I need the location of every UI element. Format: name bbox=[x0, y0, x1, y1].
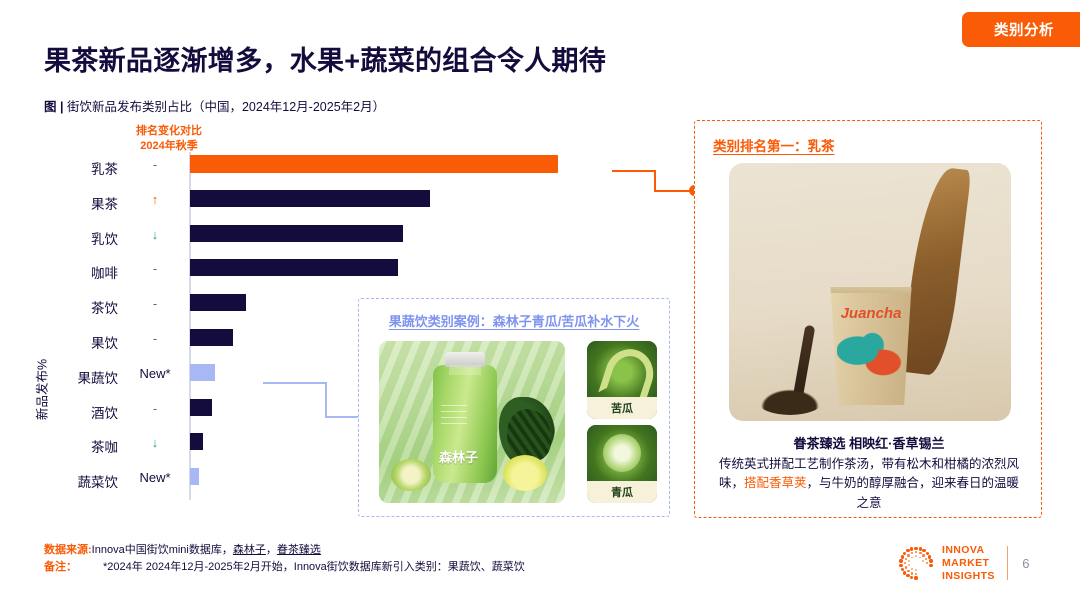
bitter-gourd-icon bbox=[587, 341, 657, 397]
figure-prefix: 图 | bbox=[44, 100, 63, 114]
tea-leaves-image bbox=[757, 387, 823, 415]
chart-bar bbox=[190, 399, 212, 416]
chart-bar bbox=[190, 468, 199, 485]
thumbnail-label: 青瓜 bbox=[587, 481, 657, 503]
lemon-half-image bbox=[503, 455, 547, 491]
logo-dots-icon bbox=[898, 545, 934, 581]
chart-bar bbox=[190, 225, 403, 242]
page-title: 果茶新品逐渐增多，水果+蔬菜的组合令人期待 bbox=[44, 39, 606, 78]
juice-product-photo: 森林子 bbox=[379, 341, 565, 503]
footer-notes: 数据来源:Innova中国街饮mini数据库，森林子，眷茶臻选 备注：*2024… bbox=[44, 542, 525, 576]
fruit-veg-case-title: 果蔬饮类别案例：森林子青瓜/苦瓜补水下火 bbox=[359, 311, 669, 330]
note-text: *2024年 2024年12月-2025年2月开始，Innova街饮数据库新引入… bbox=[103, 561, 525, 573]
rank-change-header-line1: 排名变化对比 bbox=[119, 124, 219, 139]
chart-category-label: 咖啡 bbox=[0, 262, 118, 282]
description-highlight: 搭配香草荚 bbox=[744, 476, 807, 490]
footer-note-line: 备注：*2024年 2024年12月-2025年2月开始，Innova街饮数据库… bbox=[44, 559, 525, 576]
ingredient-thumbnails: 苦瓜 青瓜 bbox=[587, 341, 657, 509]
chart-category-label: 乳茶 bbox=[0, 158, 118, 178]
chart-row: 乳饮↓ bbox=[0, 222, 620, 257]
rank-change-indicator: - bbox=[126, 261, 184, 276]
note-label: 备注： bbox=[44, 561, 77, 573]
chart-row: 咖啡- bbox=[0, 256, 620, 291]
chart-bar bbox=[190, 364, 215, 381]
source-separator: ， bbox=[266, 544, 277, 556]
footer-source-line: 数据来源:Innova中国街饮mini数据库，森林子，眷茶臻选 bbox=[44, 542, 525, 559]
chart-row: 乳茶- bbox=[0, 152, 620, 187]
chart-bar bbox=[190, 294, 246, 311]
chart-bar bbox=[190, 259, 398, 276]
slide-root: 类别分析 果茶新品逐渐增多，水果+蔬菜的组合令人期待 图 | 街饮新品发布类别占… bbox=[0, 0, 1080, 608]
product-caption: 眷茶臻选 相映红·香草锡兰 bbox=[705, 433, 1033, 452]
logo-wordmark: INNOVA MARKET INSIGHTS bbox=[942, 544, 995, 582]
source-link-juancha[interactable]: 眷茶臻选 bbox=[277, 544, 321, 556]
cup-brand-label: Juancha bbox=[825, 305, 917, 322]
logo-line-3: INSIGHTS bbox=[942, 570, 995, 583]
chart-bar bbox=[190, 190, 430, 207]
chart-category-label: 果茶 bbox=[0, 193, 118, 213]
rank-change-indicator: - bbox=[126, 331, 184, 346]
figure-subtitle: 图 | 街饮新品发布类别占比（中国，2024年12月-2025年2月） bbox=[44, 96, 385, 115]
cup-artwork bbox=[837, 329, 905, 383]
description-part-2: ，与牛奶的醇厚融合，迎来春日的温暖之意 bbox=[807, 476, 1020, 509]
paper-cup: Juancha bbox=[825, 287, 917, 405]
chart-category-label: 茶咖 bbox=[0, 436, 118, 456]
product-description: 传统英式拼配工艺制作茶汤，带有松木和柑橘的浓烈风味，搭配香草荚，与牛奶的醇厚融合… bbox=[717, 455, 1021, 513]
chart-row: 果茶↑ bbox=[0, 187, 620, 222]
chart-category-label: 蔬菜饮 bbox=[0, 471, 118, 491]
chart-bar bbox=[190, 433, 203, 450]
rank-change-indicator: ↑ bbox=[126, 192, 184, 207]
cup-lid bbox=[816, 271, 926, 293]
rank-change-indicator: New* bbox=[126, 470, 184, 485]
chart-category-label: 果蔬饮 bbox=[0, 367, 118, 387]
page-number: 6 bbox=[1022, 556, 1029, 571]
source-label: 数据来源: bbox=[44, 544, 92, 556]
rank-change-indicator: ↓ bbox=[126, 227, 184, 242]
badge-label: 类别分析 bbox=[994, 19, 1054, 40]
top-category-panel: 类别排名第一：乳茶 Juancha 眷茶臻选 相映红·香草锡兰 传统英式拼配工艺… bbox=[694, 120, 1042, 518]
source-link-senlinzi[interactable]: 森林子 bbox=[233, 544, 266, 556]
chart-bar bbox=[190, 155, 558, 173]
rank-change-indicator: ↓ bbox=[126, 435, 184, 450]
bottle-neck bbox=[449, 365, 481, 375]
rank-change-indicator: - bbox=[126, 157, 184, 172]
chart-category-label: 乳饮 bbox=[0, 228, 118, 248]
innova-logo: INNOVA MARKET INSIGHTS 6 bbox=[898, 544, 1029, 582]
thumbnail-cucumber: 青瓜 bbox=[587, 425, 657, 503]
chart-category-label: 果饮 bbox=[0, 332, 118, 352]
chart-bar bbox=[190, 329, 233, 346]
bitter-gourd-slice-image bbox=[391, 459, 431, 491]
logo-line-1: INNOVA bbox=[942, 544, 995, 557]
source-text: Innova中国街饮mini数据库， bbox=[92, 544, 233, 556]
palm-leaf-image bbox=[900, 165, 971, 377]
bottle-brand-label: 森林子 bbox=[439, 447, 491, 466]
rank-change-indicator: - bbox=[126, 401, 184, 416]
cucumber-icon bbox=[587, 425, 657, 481]
thumbnail-bitter-gourd: 苦瓜 bbox=[587, 341, 657, 419]
fruit-veg-case-panel: 果蔬饮类别案例：森林子青瓜/苦瓜补水下火 森林子 苦瓜 青瓜 bbox=[358, 298, 670, 517]
logo-divider bbox=[1007, 546, 1008, 580]
chart-category-label: 酒饮 bbox=[0, 402, 118, 422]
figure-subtitle-text: 街饮新品发布类别占比（中国，2024年12月-2025年2月） bbox=[67, 100, 385, 114]
chart-category-label: 茶饮 bbox=[0, 297, 118, 317]
milk-tea-product-photo: Juancha bbox=[729, 163, 1011, 421]
rank-change-indicator: - bbox=[126, 296, 184, 311]
category-analysis-badge: 类别分析 bbox=[962, 12, 1080, 47]
bottle-label-lines bbox=[441, 405, 467, 427]
thumbnail-label: 苦瓜 bbox=[587, 397, 657, 419]
juice-bottle: 森林子 bbox=[433, 365, 497, 483]
top-category-title: 类别排名第一：乳茶 bbox=[713, 135, 835, 155]
rank-change-indicator: New* bbox=[126, 366, 184, 381]
logo-line-2: MARKET bbox=[942, 557, 995, 570]
rank-change-header: 排名变化对比 2024年秋季 bbox=[119, 124, 219, 154]
